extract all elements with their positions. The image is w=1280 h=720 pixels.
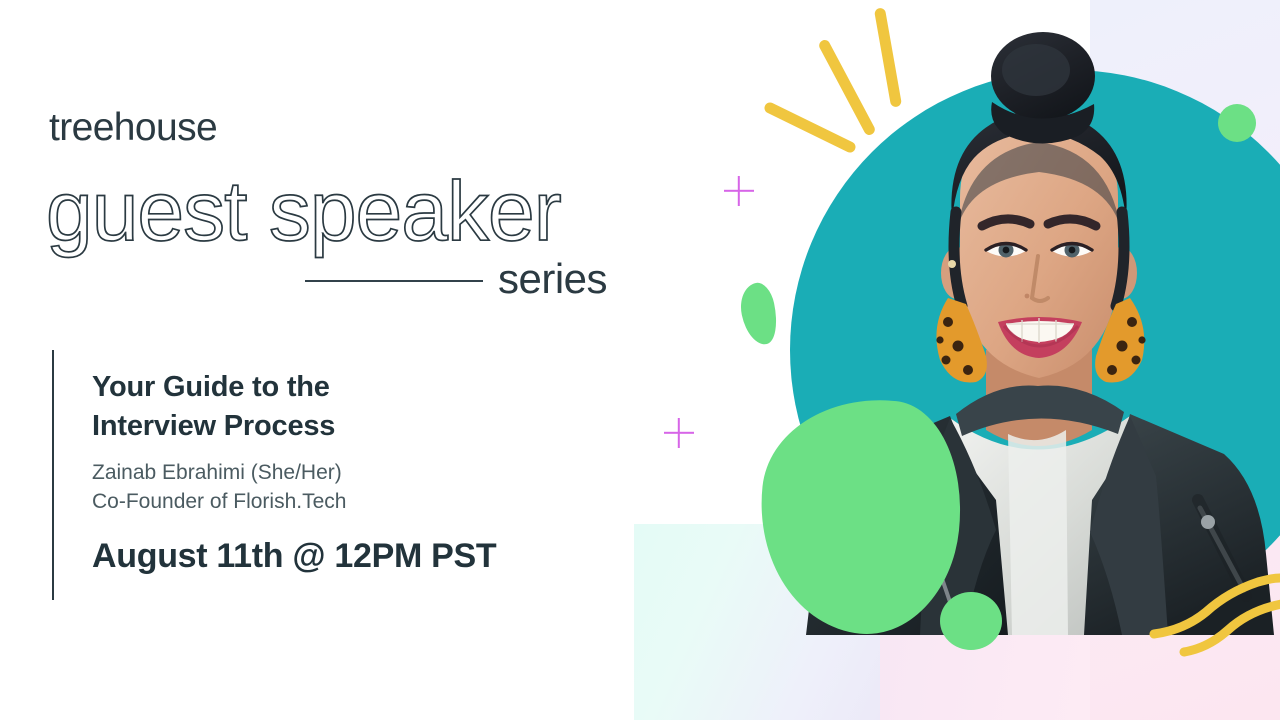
speaker-role: Co-Founder of Florish.Tech <box>92 488 612 517</box>
session-datetime: August 11th @ 12PM PST <box>92 537 612 576</box>
plus-accent-icon-middle <box>664 418 694 448</box>
speaker-name: Zainab Ebrahimi (She/Her) <box>92 459 612 488</box>
headline-divider <box>305 280 483 282</box>
headline-series: series <box>498 255 607 303</box>
brand-wordmark: treehouse <box>49 108 217 147</box>
headline-guest-speaker: guest speaker <box>40 160 680 270</box>
green-blob-small <box>736 280 782 348</box>
green-blob-dot <box>940 592 1002 650</box>
wave-accent-icon-2 <box>1178 598 1280 660</box>
session-title: Your Guide to the Interview Process <box>92 368 612 445</box>
session-info-block: Your Guide to the Interview Process Zain… <box>92 368 612 576</box>
info-block-accent-rule <box>52 350 54 600</box>
promo-slide: treehouse guest speaker series Your Guid… <box>0 0 1280 720</box>
svg-text:guest speaker: guest speaker <box>46 164 561 258</box>
plus-accent-icon-top <box>724 176 754 206</box>
